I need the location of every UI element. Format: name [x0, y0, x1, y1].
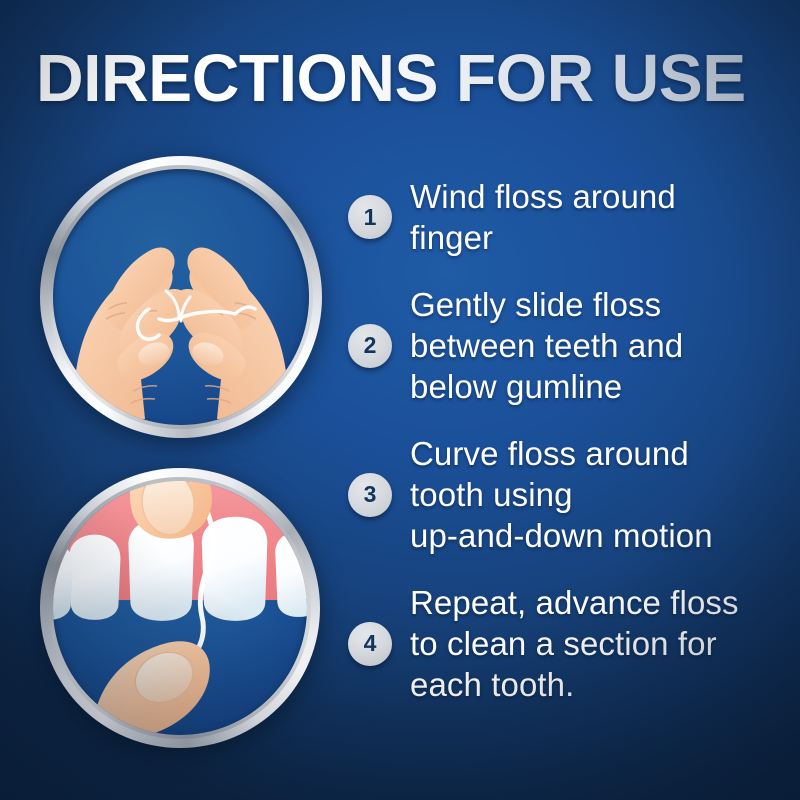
- hands-floss-icon: [53, 169, 309, 425]
- step-item: 4 Repeat, advance floss to clean a secti…: [348, 582, 788, 705]
- step-item: 1 Wind floss around finger: [348, 176, 788, 258]
- step-number-badge: 3: [348, 473, 392, 517]
- step-item: 2 Gently slide floss between teeth and b…: [348, 284, 788, 407]
- step-text: Gently slide floss between teeth and bel…: [410, 284, 683, 407]
- illustration-hands-winding-floss: [40, 156, 322, 438]
- illustration-teeth-flossing: [40, 468, 320, 748]
- step-text: Wind floss around finger: [410, 176, 676, 258]
- step-item: 3 Curve floss around tooth using up-and-…: [348, 433, 788, 556]
- directions-for-use-poster: DIRECTIONS FOR USE: [0, 0, 800, 800]
- step-text: Curve floss around tooth using up-and-do…: [410, 433, 713, 556]
- illustration-disc-1: [53, 169, 309, 425]
- illustration-disc-2: [53, 481, 307, 735]
- page-title: DIRECTIONS FOR USE: [36, 44, 765, 114]
- step-text: Repeat, advance floss to clean a section…: [410, 582, 739, 705]
- teeth-floss-icon: [53, 481, 307, 735]
- steps-list: 1 Wind floss around finger 2 Gently slid…: [348, 176, 788, 731]
- step-number-badge: 1: [348, 195, 392, 239]
- step-number-badge: 2: [348, 324, 392, 368]
- step-number-badge: 4: [348, 622, 392, 666]
